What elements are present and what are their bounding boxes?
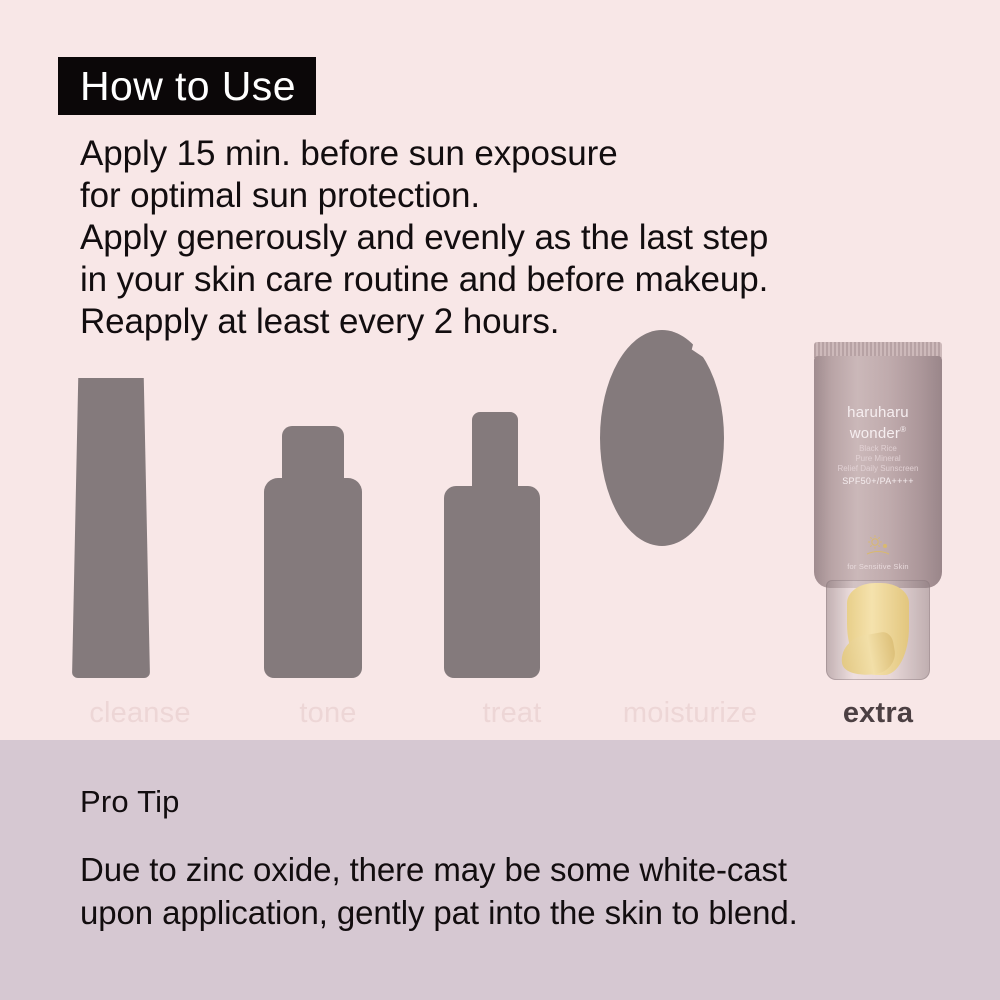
jar-silhouette-icon [600, 330, 780, 678]
step-label-extra: extra [788, 697, 968, 730]
product-sensitive-skin-note: for Sensitive Skin [814, 562, 942, 571]
step-label-cleanse: cleanse [50, 697, 230, 730]
product-descriptor: Black Rice Pure Mineral Relief Daily Sun… [814, 444, 942, 474]
routine-step-treat: treat [422, 330, 602, 740]
instruction-line: for optimal sun protection. [80, 175, 910, 217]
sun-flower-emblem-icon [861, 534, 895, 560]
how-to-use-panel: How to Use Apply 15 min. before sun expo… [0, 0, 1000, 740]
pro-tip-line: Due to zinc oxide, there may be some whi… [80, 848, 940, 891]
cap-applicator [847, 583, 909, 675]
step-label-moisturize: moisturize [600, 697, 780, 730]
pro-tip-body: Due to zinc oxide, there may be some whi… [80, 848, 940, 934]
product-brand: haruharu wonder® [814, 404, 942, 442]
brand-line-2: wonder [850, 425, 900, 442]
step-label-tone: tone [238, 697, 418, 730]
instruction-line: Apply generously and evenly as the last … [80, 217, 910, 259]
instruction-line: in your skin care routine and before mak… [80, 259, 910, 301]
pro-tip-title: Pro Tip [80, 784, 180, 820]
routine-step-tone: tone [238, 330, 418, 740]
tube-cap [826, 580, 930, 680]
routine-step-moisturize: moisturize [600, 330, 780, 740]
routine-step-cleanse: cleanse [50, 330, 230, 740]
sunscreen-tube: haruharu wonder® Black Rice Pure Mineral… [806, 342, 950, 690]
infographic-page: How to Use Apply 15 min. before sun expo… [0, 0, 1000, 1000]
tube-body: haruharu wonder® Black Rice Pure Mineral… [814, 356, 942, 588]
serum-silhouette-icon [422, 330, 602, 678]
how-to-use-banner: How to Use [58, 57, 316, 115]
bottle-silhouette-icon [238, 330, 418, 678]
instructions-block: Apply 15 min. before sun exposure for op… [80, 133, 910, 343]
descriptor-line-1: Black Rice [859, 444, 897, 453]
routine-steps: cleanse tone treat [0, 330, 1000, 740]
descriptor-line-2: Pure Mineral [855, 454, 900, 463]
page-title: How to Use [80, 66, 296, 107]
instruction-line: Apply 15 min. before sun exposure [80, 133, 910, 175]
pro-tip-panel: Pro Tip Due to zinc oxide, there may be … [0, 740, 1000, 1000]
step-label-treat: treat [422, 697, 602, 730]
routine-step-extra: haruharu wonder® Black Rice Pure Mineral… [788, 330, 968, 740]
brand-line-1: haruharu [847, 404, 909, 421]
registered-mark: ® [900, 425, 906, 434]
descriptor-line-3: Relief Daily Sunscreen [838, 464, 919, 473]
tube-silhouette-icon [50, 330, 230, 678]
product-tube-photo: haruharu wonder® Black Rice Pure Mineral… [788, 330, 968, 678]
pro-tip-line: upon application, gently pat into the sk… [80, 891, 940, 934]
product-spf-rating: SPF50+/PA++++ [814, 476, 942, 486]
